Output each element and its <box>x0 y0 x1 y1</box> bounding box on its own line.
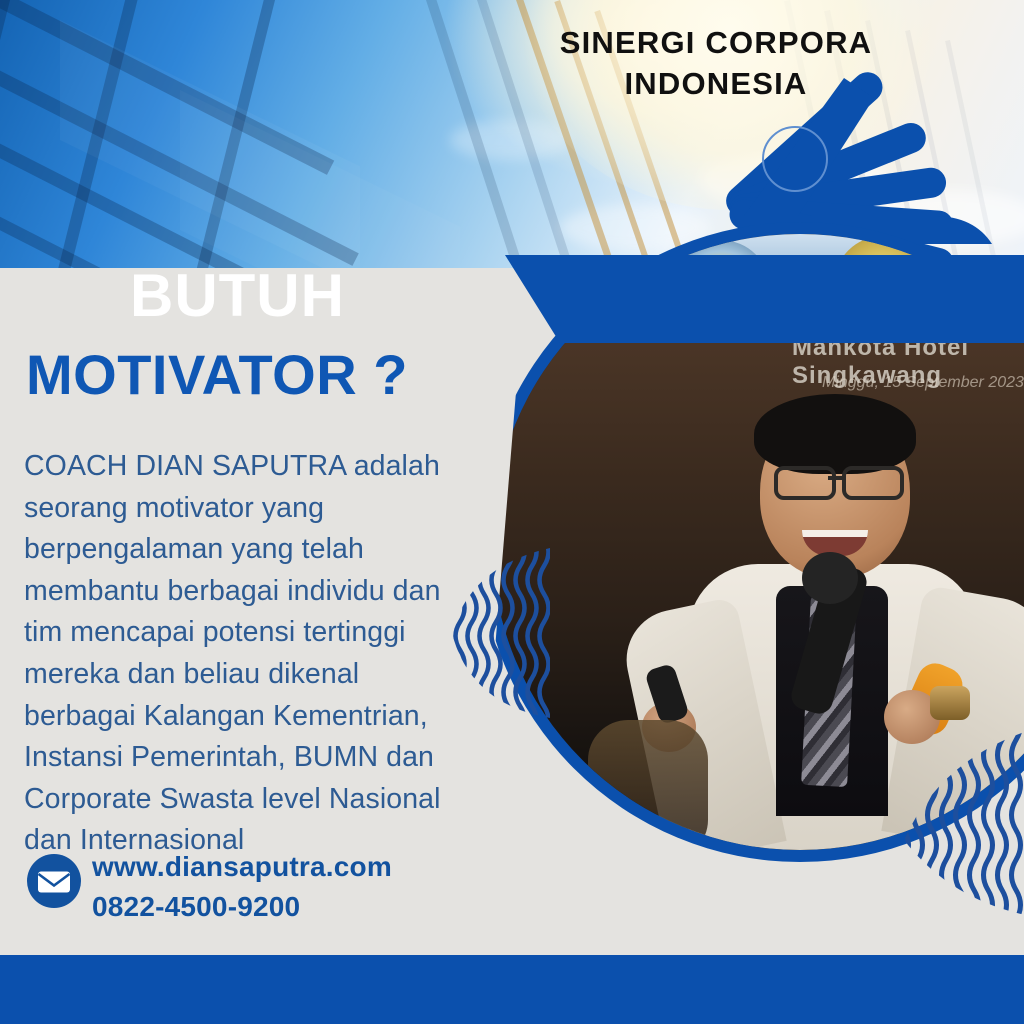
contact-phone[interactable]: 0822-4500-9200 <box>92 887 392 927</box>
wristwatch <box>930 686 970 720</box>
backdrop-subtitle: Minggu, 15 September 2023 <box>822 374 1024 392</box>
footer-bar <box>0 955 1024 1024</box>
wave-pattern-right <box>880 720 1024 920</box>
eyeglasses <box>774 466 836 500</box>
headline-line2: MOTIVATOR ? <box>26 347 408 403</box>
contact-website[interactable]: www.diansaputra.com <box>92 847 392 887</box>
contact-block[interactable]: www.diansaputra.com 0822-4500-9200 <box>24 845 494 931</box>
headline-line1: BUTUH <box>130 266 345 326</box>
circle-outline-decoration <box>762 126 828 192</box>
body-paragraph: COACH DIAN SAPUTRA adalah seorang motiva… <box>24 446 464 862</box>
poster-canvas: SINERGI CORPORA INDONESIA Mahkota Hotel … <box>0 0 1024 1024</box>
envelope-icon <box>26 853 82 909</box>
